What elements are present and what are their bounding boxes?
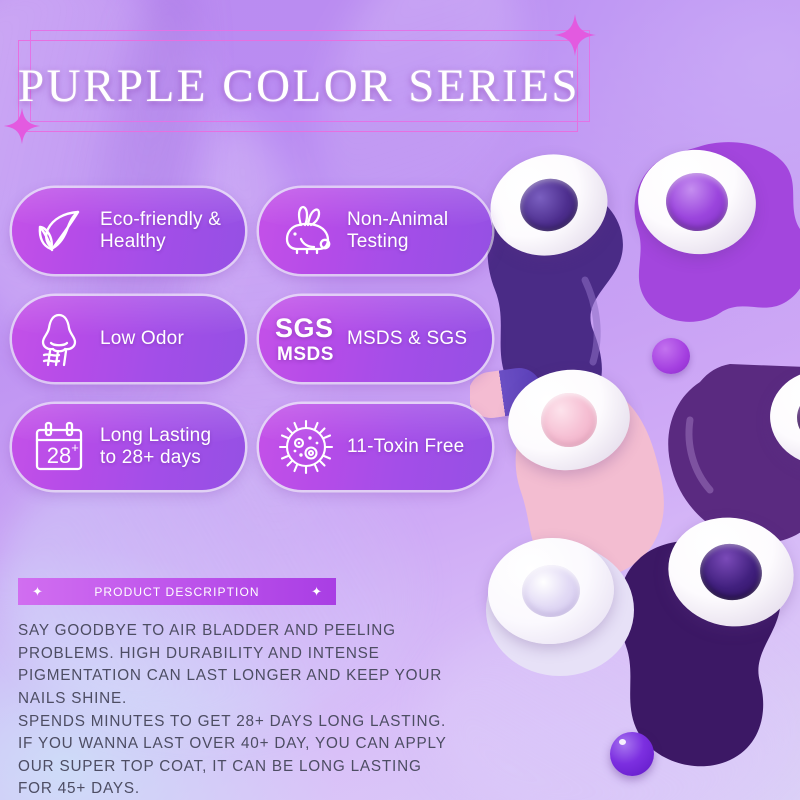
feature-label: Long Lasting to 28+ days: [100, 425, 211, 470]
feature-eco-friendly[interactable]: Eco-friendly & Healthy: [12, 188, 245, 274]
feature-label: Non-Animal Testing: [347, 209, 448, 254]
feature-list: Eco-friendly & Healthy Non-Animal Testin…: [12, 188, 492, 512]
product-poster: PURPLE COLOR SERIES Eco-friendly & Healt…: [0, 0, 800, 800]
product-photo: [470, 120, 800, 800]
product-description-text: SAY GOODBYE TO AIR BLADDER AND PEELING P…: [18, 620, 448, 800]
description-paragraph-1: SAY GOODBYE TO AIR BLADDER AND PEELING P…: [18, 620, 448, 711]
feature-row-1: Eco-friendly & Healthy Non-Animal Testin…: [12, 188, 492, 274]
product-description-heading: PRODUCT DESCRIPTION: [43, 585, 311, 599]
svg-text:+: +: [71, 440, 79, 455]
feature-long-lasting[interactable]: 28 + Long Lasting to 28+ days: [12, 404, 245, 490]
polish-droplet-small-2: [610, 732, 654, 776]
description-paragraph-2: SPENDS MINUTES TO GET 28+ DAYS LONG LAST…: [18, 711, 448, 800]
sparkle-icon-bar-left: ✦: [32, 585, 43, 598]
feature-label: MSDS & SGS: [347, 328, 467, 350]
sgs-mark-line1: SGS: [275, 315, 337, 342]
feature-label: Eco-friendly & Healthy: [100, 209, 221, 254]
feature-msds-sgs[interactable]: SGS MSDS MSDS & SGS: [259, 296, 492, 382]
leaf-icon: [28, 200, 90, 262]
feature-toxin-free[interactable]: 11-Toxin Free: [259, 404, 492, 490]
feature-row-2: Low Odor SGS MSDS MSDS & SGS: [12, 296, 492, 382]
product-description-bar: ✦ PRODUCT DESCRIPTION ✦: [18, 578, 336, 605]
sgs-msds-mark: SGS MSDS: [275, 315, 337, 364]
feature-row-3: 28 + Long Lasting to 28+ days: [12, 404, 492, 490]
sparkle-icon-bar-right: ✦: [311, 585, 322, 598]
sgs-mark-line2: MSDS: [277, 345, 337, 364]
page-title: PURPLE COLOR SERIES: [18, 59, 578, 113]
feature-label: 11-Toxin Free: [347, 436, 464, 458]
svg-text:28: 28: [47, 443, 71, 468]
nose-icon: [28, 308, 90, 370]
calendar-28-icon: 28 +: [28, 416, 90, 478]
feature-non-animal-testing[interactable]: Non-Animal Testing: [259, 188, 492, 274]
rabbit-icon: [275, 200, 337, 262]
feature-label: Low Odor: [100, 328, 184, 350]
title-block: PURPLE COLOR SERIES: [18, 40, 578, 132]
germ-icon: [275, 416, 337, 478]
feature-low-odor[interactable]: Low Odor: [12, 296, 245, 382]
